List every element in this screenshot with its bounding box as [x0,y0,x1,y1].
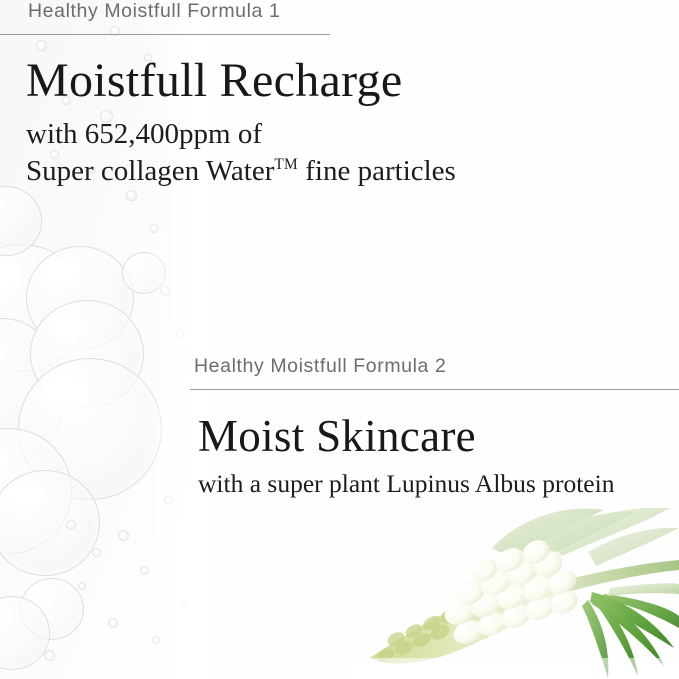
formula-1-subline-line-2: Super collagen WaterTM fine particles [26,153,520,190]
formula-1-headline: Moistfull Recharge [26,53,520,108]
collagen-water-label: Super collagen Water [26,155,274,187]
lupine-illustration [352,508,679,679]
formula-1-divider [0,34,330,35]
formula-2-headline: Moist Skincare [198,410,679,462]
formula-1-section: Healthy Moistfull Formula 1 Moistfull Re… [0,0,520,190]
formula-1-subline: with 652,400ppm of Super collagen WaterT… [26,116,520,190]
formula-2-subline: with a super plant Lupinus Albus protein [198,468,679,501]
formula-2-section: Healthy Moistfull Formula 2 Moist Skinca… [190,355,679,501]
formula-2-eyebrow: Healthy Moistfull Formula 2 [190,355,679,389]
lupinus-albus-flower-image [352,508,679,679]
trademark-mark: TM [274,156,298,173]
fine-particles-label: fine particles [298,155,456,187]
formula-1-eyebrow: Healthy Moistfull Formula 1 [0,0,520,34]
product-detail-page: Healthy Moistfull Formula 1 Moistfull Re… [0,0,679,679]
formula-2-divider [190,389,679,390]
formula-1-subline-line-1: with 652,400ppm of [26,116,520,153]
